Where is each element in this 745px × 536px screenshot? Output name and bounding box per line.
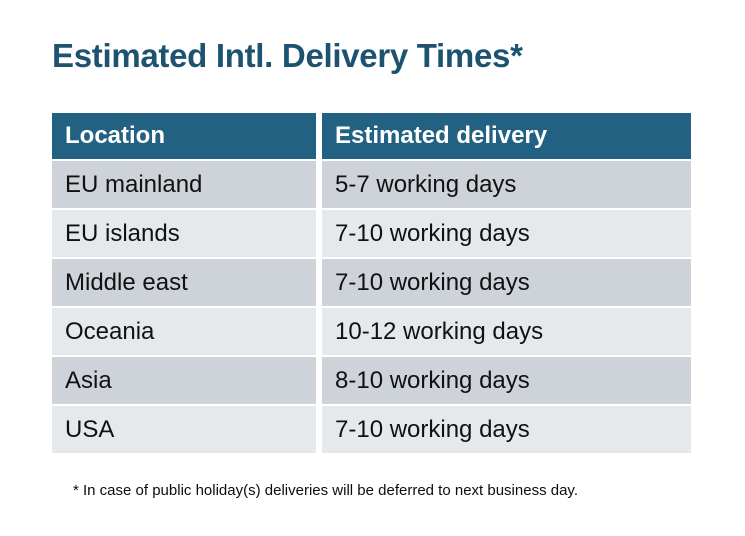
cell-location: Middle east (52, 259, 316, 306)
table-header-row: Location Estimated delivery (52, 113, 691, 159)
page-title: Estimated Intl. Delivery Times* (52, 36, 523, 76)
cell-delivery: 7-10 working days (322, 259, 691, 306)
cell-delivery: 7-10 working days (322, 406, 691, 453)
cell-location: Asia (52, 357, 316, 404)
column-header-estimated-delivery: Estimated delivery (322, 113, 691, 159)
cell-location: USA (52, 406, 316, 453)
delivery-times-page: Estimated Intl. Delivery Times* Location… (0, 0, 745, 536)
cell-delivery: 5-7 working days (322, 161, 691, 208)
cell-location: EU mainland (52, 161, 316, 208)
cell-location: Oceania (52, 308, 316, 355)
table-row: Oceania 10-12 working days (52, 308, 691, 355)
footnote-text: * In case of public holiday(s) deliverie… (73, 481, 578, 501)
cell-delivery: 8-10 working days (322, 357, 691, 404)
column-header-location: Location (52, 113, 316, 159)
table-row: EU islands 7-10 working days (52, 210, 691, 257)
table-row: USA 7-10 working days (52, 406, 691, 453)
cell-delivery: 10-12 working days (322, 308, 691, 355)
cell-location: EU islands (52, 210, 316, 257)
table-row: Middle east 7-10 working days (52, 259, 691, 306)
table-row: EU mainland 5-7 working days (52, 161, 691, 208)
cell-delivery: 7-10 working days (322, 210, 691, 257)
delivery-times-table: Location Estimated delivery EU mainland … (52, 113, 691, 453)
table-row: Asia 8-10 working days (52, 357, 691, 404)
